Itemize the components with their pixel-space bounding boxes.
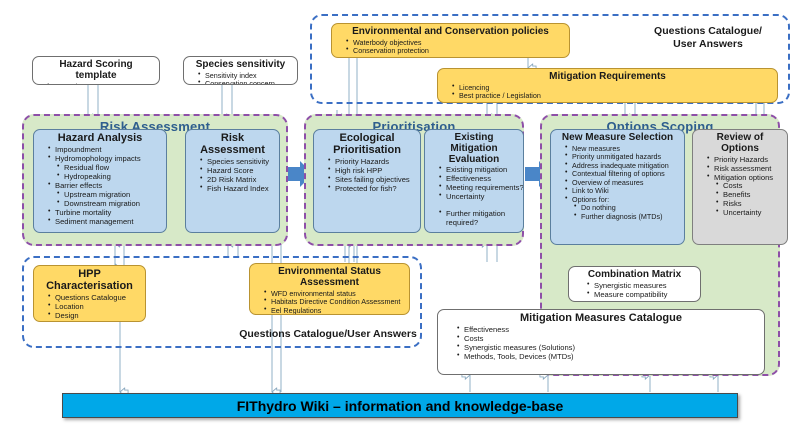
- combination-matrix-box[interactable]: Combination Matrix Synergistic measures …: [568, 266, 701, 302]
- review-of-options-title: Review of Options: [698, 133, 782, 155]
- policy-group-label-line1: Questions Catalogue/: [654, 25, 762, 37]
- hpp-characterisation-list: Questions Catalogue Location Design Oper…: [39, 294, 140, 322]
- species-sensitivity-box[interactable]: Species sensitivity Sensitivity index Co…: [183, 56, 298, 85]
- review-of-options-list: Priority Hazards Risk assessment Mitigat…: [698, 156, 782, 219]
- species-sensitivity-list: Sensitivity index Conservation concern: [189, 72, 292, 85]
- mitigation-measures-catalogue-box[interactable]: Mitigation Measures Catalogue Effectiven…: [437, 309, 765, 375]
- policy-group-label-line2: User Answers: [673, 38, 743, 50]
- fithydro-wiki-bar[interactable]: FIThydro Wiki – information and knowledg…: [62, 393, 738, 418]
- existing-mitigation-evaluation-list-2: Further mitigation required?: [430, 210, 518, 228]
- new-measure-selection-box[interactable]: New Measure Selection New measures Prior…: [550, 129, 685, 245]
- mitigation-requirements-list: Licencing Best practice / Legislation: [443, 84, 772, 101]
- risk-assessment-title: Risk Assessment: [191, 133, 274, 157]
- combination-matrix-title: Combination Matrix: [574, 270, 695, 281]
- env-conservation-policies-title: Environmental and Conservation policies: [337, 27, 564, 38]
- list-item: Protected for fish?: [328, 185, 415, 194]
- existing-mitigation-evaluation-box[interactable]: Existing Mitigation Evaluation Existing …: [424, 129, 524, 233]
- env-conservation-policies-list: Waterbody objectives Conservation protec…: [337, 39, 564, 56]
- ecological-prioritisation-title-2: Prioritisation: [319, 145, 415, 157]
- list-item: Further diagnosis (MTDs): [574, 213, 679, 221]
- list-item: Conservation protection: [346, 47, 564, 55]
- hpp-characterisation-box[interactable]: HPP Characterisation Questions Catalogue…: [33, 265, 146, 322]
- existing-mitigation-evaluation-title-2: Evaluation: [430, 155, 518, 166]
- environmental-status-assessment-title: Environmental Status Assessment: [255, 267, 404, 289]
- diagram-canvas: Questions Catalogue/ User Answers Questi…: [0, 0, 800, 427]
- mitigation-measures-catalogue-list: Effectiveness Costs Synergistic measures…: [443, 326, 759, 362]
- hazard-scoring-template-box[interactable]: Hazard Scoring template Hazard types Haz…: [32, 56, 160, 85]
- mitigation-requirements-box[interactable]: Mitigation Requirements Licencing Best p…: [437, 68, 778, 103]
- species-sensitivity-title: Species sensitivity: [189, 60, 292, 71]
- list-item: Conservation concern: [198, 80, 292, 85]
- list-item: Sediment management: [48, 218, 161, 227]
- hazard-analysis-box[interactable]: Hazard Analysis Impoundment Hydromopholo…: [33, 129, 167, 233]
- combination-matrix-list: Synergistic measures Measure compatibili…: [574, 282, 695, 300]
- environmental-status-assessment-list: WFD environmental status Habitats Direct…: [255, 290, 404, 315]
- env-conservation-policies-box[interactable]: Environmental and Conservation policies …: [331, 23, 570, 58]
- list-item: Best practice / Legislation: [452, 92, 772, 100]
- risk-assessment-box[interactable]: Risk Assessment Species sensitivity Haza…: [185, 129, 280, 233]
- risk-assessment-list: Species sensitivity Hazard Score 2D Risk…: [191, 158, 274, 194]
- list-item: Hazard types: [47, 83, 154, 85]
- hazard-analysis-title: Hazard Analysis: [39, 133, 161, 145]
- hazard-analysis-list: Impoundment Hydromophology impacts Resid…: [39, 146, 161, 227]
- ecological-prioritisation-list: Priority Hazards High risk HPP Sites fai…: [319, 158, 415, 194]
- policy-group-label: Questions Catalogue/ User Answers: [628, 25, 788, 51]
- mitigation-measures-catalogue-title: Mitigation Measures Catalogue: [443, 313, 759, 325]
- list-item: Fish Hazard Index: [200, 185, 274, 194]
- hazard-scoring-template-title: Hazard Scoring template: [38, 60, 154, 82]
- assessment-group-label: Questions Catalogue/User Answers: [238, 328, 418, 341]
- list-item: Methods, Tools, Devices (MTDs): [457, 353, 759, 362]
- existing-mitigation-evaluation-title-1: Existing Mitigation: [430, 133, 518, 155]
- ecological-prioritisation-box[interactable]: Ecological Prioritisation Priority Hazar…: [313, 129, 421, 233]
- hpp-characterisation-title: HPP Characterisation: [39, 269, 140, 293]
- mitigation-requirements-title: Mitigation Requirements: [443, 72, 772, 83]
- list-item: Effectiveness: [457, 326, 759, 335]
- environmental-status-assessment-box[interactable]: Environmental Status Assessment WFD envi…: [249, 263, 410, 315]
- list-item: Operation: [48, 321, 140, 322]
- hazard-scoring-template-list: Hazard types Hazard indicators: [38, 83, 154, 85]
- existing-mitigation-evaluation-list: Existing mitigation Effectiveness Meetin…: [430, 166, 518, 202]
- list-item: Measure compatibility: [587, 291, 695, 300]
- list-item: Uncertainty: [439, 193, 518, 202]
- list-item: Further mitigation required?: [439, 210, 518, 228]
- fithydro-wiki-label: FIThydro Wiki – information and knowledg…: [237, 398, 564, 414]
- list-item: Uncertainty: [716, 209, 782, 218]
- new-measure-selection-title: New Measure Selection: [556, 133, 679, 144]
- new-measure-selection-list: New measures Priority unmitigated hazard…: [556, 145, 679, 221]
- review-of-options-box[interactable]: Review of Options Priority Hazards Risk …: [692, 129, 788, 245]
